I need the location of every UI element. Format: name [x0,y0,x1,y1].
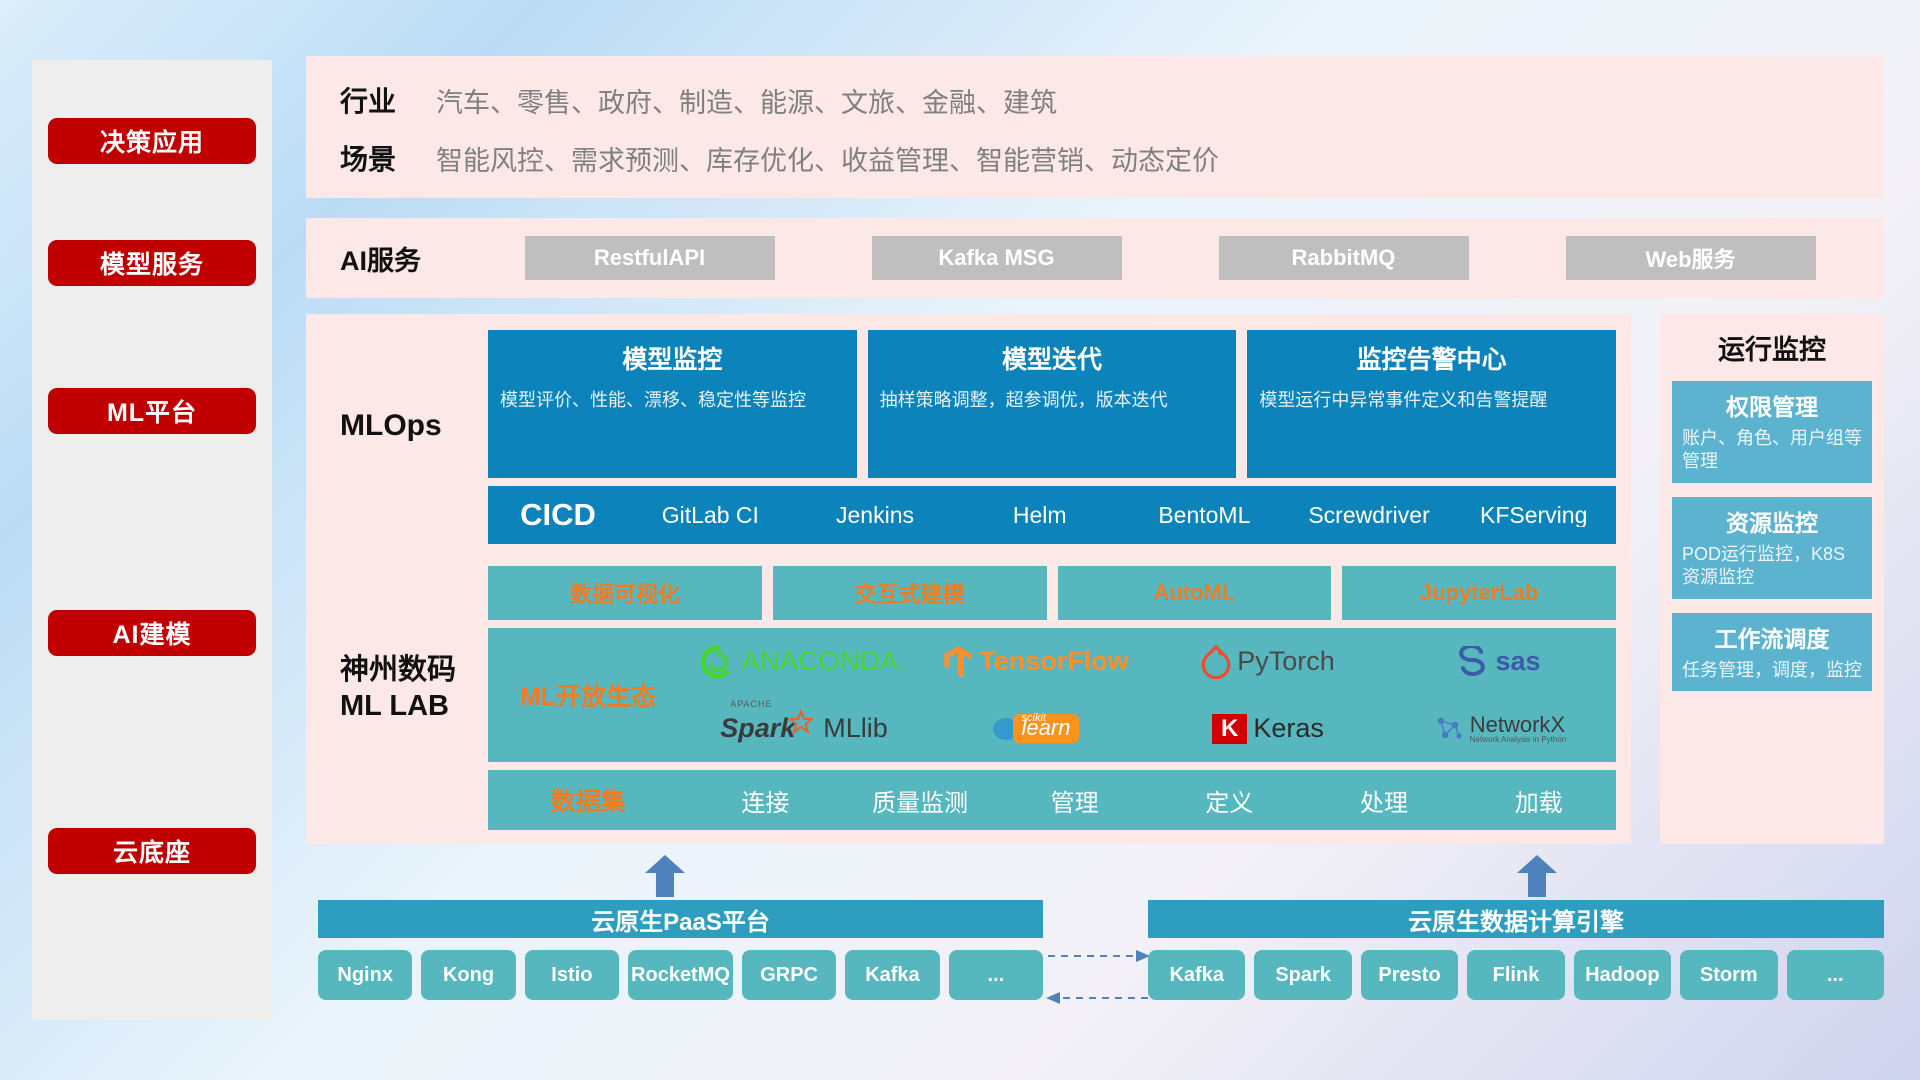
paas-chip-more[interactable]: ... [949,950,1043,1000]
dataset-item-manage[interactable]: 管理 [997,783,1152,818]
mlops-band: MLOps 模型监控 模型评价、性能、漂移、稳定性等监控 模型迭代 抽样策略调整… [306,314,1631,552]
cloud-native-paas-title: 云原生PaaS平台 [318,900,1043,938]
engine-chip-hadoop[interactable]: Hadoop [1574,950,1671,1000]
card-desc: 模型运行中异常事件定义和告警提醒 [1259,388,1604,412]
card-title: 监控告警中心 [1259,340,1604,376]
networkx-logo: NetworkX Network Analysis in Python [1434,714,1567,744]
cicd-item-screwdriver[interactable]: Screwdriver [1287,504,1452,527]
engine-chip-flink[interactable]: Flink [1467,950,1564,1000]
keras-logo: K Keras [1212,713,1324,744]
sas-logo-text: sas [1495,646,1540,677]
paas-chip-rocketmq[interactable]: RocketMQ [628,950,733,1000]
networkx-logo-text: NetworkX [1470,714,1567,736]
cicd-item-list: GitLab CI Jenkins Helm BentoML Screwdriv… [628,504,1616,527]
ai-service-chip-restfulapi[interactable]: RestfulAPI [525,236,775,280]
left-rail: 决策应用 模型服务 ML平台 AI建模 云底座 [32,60,272,1020]
ai-service-label: AI服务 [306,239,476,278]
industry-row: 行业 汽车、零售、政府、制造、能源、文旅、金融、建筑 [306,80,1884,120]
spark-apache-text: APACHE [730,699,772,709]
dataset-item-list: 连接 质量监测 管理 定义 处理 加载 [688,783,1616,818]
ai-service-chip-kafka-msg[interactable]: Kafka MSG [872,236,1122,280]
scikit-text: scikit [1022,712,1046,724]
spark-logo-text: Spark [720,713,795,744]
up-arrow-data-engine-icon [1517,855,1557,897]
pytorch-logo: PyTorch [1201,645,1335,679]
engine-chip-more[interactable]: ... [1787,950,1884,1000]
cicd-label: CICD [488,497,628,533]
cicd-item-bentoml[interactable]: BentoML [1122,504,1287,527]
rail-item-cloud-base[interactable]: 云底座 [48,828,256,874]
pytorch-logo-text: PyTorch [1237,646,1335,677]
mlops-card-model-iteration[interactable]: 模型迭代 抽样策略调整，超参调优，版本迭代 [868,330,1237,478]
ai-service-chip-web[interactable]: Web服务 [1566,236,1816,280]
architecture-diagram: 决策应用 模型服务 ML平台 AI建模 云底座 行业 汽车、零售、政府、制造、能… [0,0,1920,1080]
anaconda-logo-text: ANACONDA. [741,646,906,677]
card-desc: 账户、角色、用户组等管理 [1682,427,1862,474]
cicd-item-helm[interactable]: Helm [957,504,1122,527]
card-title: 资源监控 [1682,504,1862,538]
tool-chip-data-visualization[interactable]: 数据可视化 [488,566,762,620]
dataset-item-define[interactable]: 定义 [1152,783,1307,818]
dataset-item-quality-monitor[interactable]: 质量监测 [843,783,998,818]
scikit-learn-logo: scikit learn [993,714,1080,743]
cicd-item-jenkins[interactable]: Jenkins [793,504,958,527]
cicd-bar: CICD GitLab CI Jenkins Helm BentoML Scre… [488,486,1616,544]
engine-chip-kafka[interactable]: Kafka [1148,950,1245,1000]
card-desc: 模型评价、性能、漂移、稳定性等监控 [500,388,845,412]
keras-logo-text: Keras [1253,713,1324,744]
rail-item-ml-platform[interactable]: ML平台 [48,388,256,434]
engine-chip-spark[interactable]: Spark [1254,950,1351,1000]
mlops-label: MLOps [340,409,442,443]
card-title: 权限管理 [1682,388,1862,422]
ai-service-chip-rabbitmq[interactable]: RabbitMQ [1219,236,1469,280]
tool-chip-jupyterlab[interactable]: JupyterLab [1342,566,1616,620]
ml-open-ecosystem-row: ML开放生态 ANACONDA. TensorFlow [488,628,1616,762]
ai-service-band: AI服务 RestfulAPI Kafka MSG RabbitMQ Web服务 [306,218,1884,298]
scene-values: 智能风控、需求预测、库存优化、收益管理、智能营销、动态定价 [436,139,1219,178]
card-title: 模型监控 [500,340,845,376]
runtime-monitoring-column: 运行监控 权限管理 账户、角色、用户组等管理 资源监控 POD运行监控，K8S资… [1660,314,1884,844]
engine-chip-presto[interactable]: Presto [1361,950,1458,1000]
scene-label: 场景 [306,138,436,178]
cicd-item-gitlab-ci[interactable]: GitLab CI [628,504,793,527]
ecosystem-logo-grid: ANACONDA. TensorFlow PyTorch [688,628,1616,762]
paas-chip-list: Nginx Kong Istio RocketMQ GRPC Kafka ... [318,938,1043,1000]
cloud-native-paas-block: 云原生PaaS平台 Nginx Kong Istio RocketMQ GRPC… [318,900,1043,1010]
runtime-monitoring-title: 运行监控 [1660,314,1884,367]
ml-lab-label: 神州数码 ML LAB [340,652,456,725]
industry-label: 行业 [306,80,436,120]
card-title: 模型迭代 [880,340,1225,376]
monitor-card-permission[interactable]: 权限管理 账户、角色、用户组等管理 [1672,381,1872,483]
mlops-card-alert-center[interactable]: 监控告警中心 模型运行中异常事件定义和告警提醒 [1247,330,1616,478]
card-desc: 任务管理，调度，监控 [1682,659,1862,682]
industry-values: 汽车、零售、政府、制造、能源、文旅、金融、建筑 [436,81,1057,120]
paas-chip-grpc[interactable]: GRPC [742,950,836,1000]
tensorflow-logo-text: TensorFlow [979,646,1129,677]
up-arrow-paas-icon [645,855,685,897]
ml-lab-label-line2: ML LAB [340,688,456,724]
spark-mllib-logo: APACHE Spark MLlib [720,713,888,744]
rail-item-ai-modeling[interactable]: AI建模 [48,610,256,656]
tensorflow-logo: TensorFlow [943,645,1129,679]
mlops-card-model-monitoring[interactable]: 模型监控 模型评价、性能、漂移、稳定性等监控 [488,330,857,478]
industry-scene-band: 行业 汽车、零售、政府、制造、能源、文旅、金融、建筑 场景 智能风控、需求预测、… [306,56,1884,198]
cloud-native-data-engine-title: 云原生数据计算引擎 [1148,900,1884,938]
networkx-tagline: Network Analysis in Python [1470,736,1567,744]
dataset-item-load[interactable]: 加载 [1461,783,1616,818]
mlops-card-list: 模型监控 模型评价、性能、漂移、稳定性等监控 模型迭代 抽样策略调整，超参调优，… [488,330,1616,478]
ai-service-chip-list: RestfulAPI Kafka MSG RabbitMQ Web服务 [476,236,1884,280]
card-desc: 抽样策略调整，超参调优，版本迭代 [880,388,1225,412]
mllib-logo-text: MLlib [823,713,888,744]
card-desc: POD运行监控，K8S资源监控 [1682,543,1862,590]
paas-chip-istio[interactable]: Istio [525,950,619,1000]
rail-item-model-service[interactable]: 模型服务 [48,240,256,286]
keras-mark: K [1212,714,1247,744]
monitor-card-resource[interactable]: 资源监控 POD运行监控，K8S资源监控 [1672,497,1872,599]
ml-lab-band: 神州数码 ML LAB 数据可视化 交互式建模 AutoML JupyterLa… [306,552,1631,844]
monitor-card-workflow[interactable]: 工作流调度 任务管理，调度，监控 [1672,613,1872,691]
scene-row: 场景 智能风控、需求预测、库存优化、收益管理、智能营销、动态定价 [306,138,1884,178]
paas-chip-nginx[interactable]: Nginx [318,950,412,1000]
paas-chip-kafka[interactable]: Kafka [845,950,939,1000]
dataset-item-connect[interactable]: 连接 [688,783,843,818]
cloud-native-data-engine-block: 云原生数据计算引擎 Kafka Spark Presto Flink Hadoo… [1148,900,1884,1010]
anaconda-logo: ANACONDA. [701,645,906,679]
cicd-item-kfserving[interactable]: KFServing [1451,504,1616,527]
ml-lab-label-line1: 神州数码 [340,652,456,688]
engine-chip-storm[interactable]: Storm [1680,950,1777,1000]
rail-item-decision-app[interactable]: 决策应用 [48,118,256,164]
sas-logo: sas [1459,646,1540,678]
tool-chip-automl[interactable]: AutoML [1058,566,1332,620]
ml-lab-tool-list: 数据可视化 交互式建模 AutoML JupyterLab [488,566,1616,620]
dataset-label: 数据集 [488,782,688,818]
dataset-row: 数据集 连接 质量监测 管理 定义 处理 加载 [488,770,1616,830]
tool-chip-interactive-modeling[interactable]: 交互式建模 [773,566,1047,620]
data-engine-chip-list: Kafka Spark Presto Flink Hadoop Storm ..… [1148,938,1884,1000]
paas-chip-kong[interactable]: Kong [421,950,515,1000]
card-title: 工作流调度 [1682,620,1862,654]
dataset-item-process[interactable]: 处理 [1307,783,1462,818]
ml-open-ecosystem-label: ML开放生态 [488,677,688,713]
cloud-link-arrows-icon [1046,944,1150,1014]
